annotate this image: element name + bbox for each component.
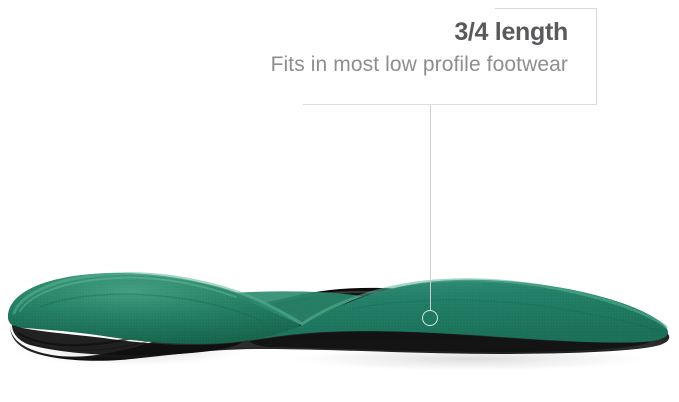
leader-line-icon [430,105,431,310]
circle-outline-icon [422,310,438,326]
callout-box: 3/4 length Fits in most low profile foot… [303,0,597,105]
product-image [0,255,679,402]
callout-text-group: 3/4 length Fits in most low profile foot… [143,0,583,77]
callout-border-right [596,8,597,105]
callout-subtitle: Fits in most low profile footwear [143,52,568,77]
callout-title: 3/4 length [143,19,568,47]
product-feature-callout-page: 3/4 length Fits in most low profile foot… [0,0,679,402]
callout-border-bottom [303,104,597,105]
